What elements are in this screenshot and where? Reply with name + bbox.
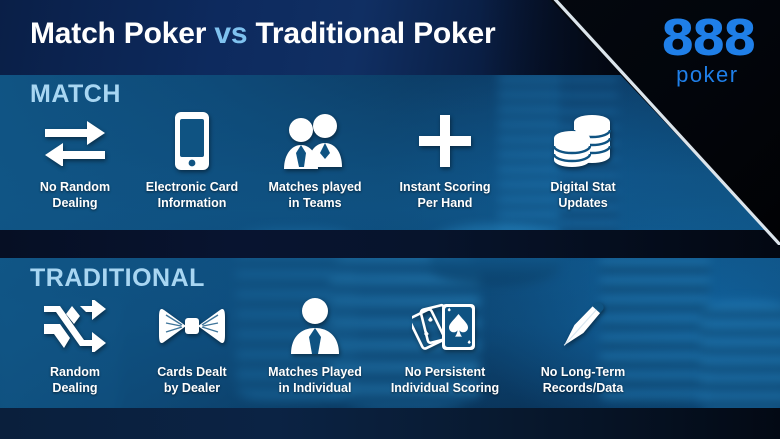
- logo-poker-text: poker: [661, 64, 754, 86]
- logo-888-text: 888: [661, 14, 754, 63]
- plus-icon: [375, 110, 515, 172]
- label-line-1: Cards Dealt: [157, 365, 226, 379]
- item-label: Matches Played in Individual: [245, 365, 385, 396]
- label-line-2: Dealing: [52, 196, 97, 210]
- item-label: Electronic Card Information: [122, 180, 262, 211]
- footer-band: [0, 408, 780, 439]
- label-line-2: Records/Data: [543, 381, 624, 395]
- item-instant-scoring-per-hand[interactable]: Instant Scoring Per Hand: [375, 110, 515, 211]
- item-label: No Persistent Individual Scoring: [375, 365, 515, 396]
- bow-tie-icon: [122, 295, 262, 357]
- item-no-long-term-records-data[interactable]: No Long-Term Records/Data: [513, 295, 653, 396]
- label-line-1: No Persistent: [405, 365, 486, 379]
- label-line-1: Random: [50, 365, 100, 379]
- label-line-2: in Individual: [279, 381, 352, 395]
- label-line-2: by Dealer: [164, 381, 220, 395]
- label-line-2: Individual Scoring: [391, 381, 499, 395]
- brand-logo[interactable]: 888 poker: [661, 14, 754, 86]
- section-heading-traditional: TRADITIONAL: [30, 264, 205, 293]
- traditional-items-row: Random Dealing Cards Dealt by Dealer: [0, 295, 780, 405]
- section-heading-match: MATCH: [30, 80, 121, 109]
- title-text-left: Match Poker: [30, 17, 214, 50]
- item-matches-played-in-individual[interactable]: Matches Played in Individual: [245, 295, 385, 396]
- single-person-icon: [245, 295, 385, 357]
- label-line-1: No Random: [40, 180, 110, 194]
- two-people-icon: [245, 110, 385, 172]
- label-line-1: Matches played: [268, 180, 361, 194]
- label-line-2: Dealing: [52, 381, 97, 395]
- label-line-1: No Long-Term: [541, 365, 625, 379]
- title-text-right: Traditional Poker: [247, 17, 495, 50]
- label-line-1: Instant Scoring: [400, 180, 491, 194]
- label-line-1: Matches Played: [268, 365, 362, 379]
- title-vs: vs: [214, 17, 247, 50]
- label-line-2: Information: [158, 196, 227, 210]
- page-title: Match Poker vs Traditional Poker: [30, 17, 495, 51]
- item-matches-played-in-teams[interactable]: Matches played in Teams: [245, 110, 385, 211]
- item-no-persistent-individual-scoring[interactable]: No Persistent Individual Scoring: [375, 295, 515, 396]
- pen-icon: [513, 295, 653, 357]
- playing-cards-icon: [375, 295, 515, 357]
- infographic-canvas: Match Poker vs Traditional Poker 888 pok…: [0, 0, 780, 439]
- item-label: Instant Scoring Per Hand: [375, 180, 515, 211]
- label-line-2: in Teams: [288, 196, 341, 210]
- item-label: Cards Dealt by Dealer: [122, 365, 262, 396]
- label-line-2: Per Hand: [418, 196, 473, 210]
- item-label: Matches played in Teams: [245, 180, 385, 211]
- item-label: No Long-Term Records/Data: [513, 365, 653, 396]
- item-cards-dealt-by-dealer[interactable]: Cards Dealt by Dealer: [122, 295, 262, 396]
- smartphone-icon: [122, 110, 262, 172]
- label-line-1: Electronic Card: [146, 180, 238, 194]
- item-electronic-card-information[interactable]: Electronic Card Information: [122, 110, 262, 211]
